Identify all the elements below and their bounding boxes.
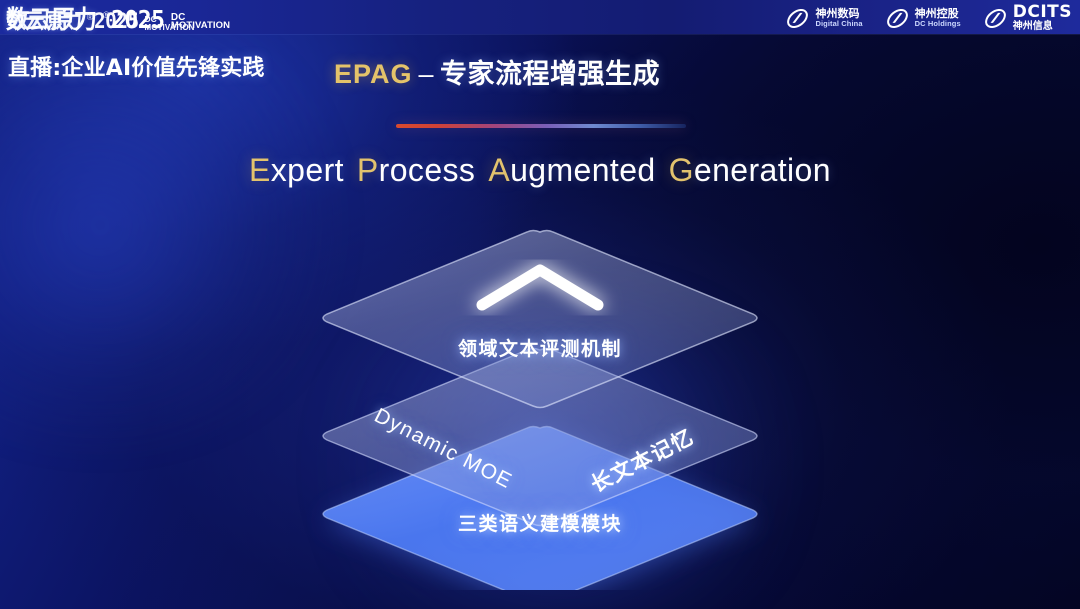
footer-brand-name-cn: 数云原力 — [6, 11, 81, 32]
title-dash: – — [419, 59, 435, 89]
accent-divider — [396, 124, 686, 128]
footer-registered-mark-icon: ® — [87, 14, 93, 22]
presentation-slide: 数云原力 ® 2025 DC MOTIVATION 神州数码 Digital C… — [0, 0, 1080, 609]
subtitle-word-process: Process — [357, 152, 475, 188]
subtitle-word-generation: Generation — [669, 152, 831, 188]
title-chinese: 专家流程增强生成 — [440, 59, 660, 90]
live-stream-label: 直播:企业AI价值先锋实践 — [8, 50, 265, 82]
subtitle-rest: xpert — [271, 152, 344, 188]
layers-svg — [285, 222, 795, 590]
subtitle-capital: P — [357, 152, 379, 188]
subtitle-word-expert: Expert — [249, 152, 344, 188]
subtitle-capital: G — [669, 152, 694, 188]
title-acronym: EPAG — [334, 59, 413, 89]
footer-watermark-logo: 数云原力 ® 2025 DC MOTIVATION — [6, 2, 1070, 32]
subtitle-expansion: ExpertProcessAugmentedGeneration — [0, 152, 1080, 189]
page-title: EPAG–专家流程增强生成 — [334, 52, 660, 91]
stacked-layers-diagram: 领域文本评测机制 Dynamic MOE 长文本记忆 三类语义建模模块 — [285, 222, 795, 590]
subtitle-capital: E — [249, 152, 271, 188]
footer-brand-year: 2025 — [94, 11, 139, 32]
subtitle-word-augmented: Augmented — [488, 152, 655, 188]
footer-brand-tagline: DC MOTIVATION — [144, 16, 194, 31]
subtitle-rest: ugmented — [510, 152, 656, 188]
subtitle-rest: eneration — [694, 152, 831, 188]
subtitle-rest: rocess — [379, 152, 476, 188]
diagram-layer-top — [323, 231, 757, 408]
footer-tagline-motivation: MOTIVATION — [144, 24, 194, 31]
subtitle-capital: A — [488, 152, 510, 188]
